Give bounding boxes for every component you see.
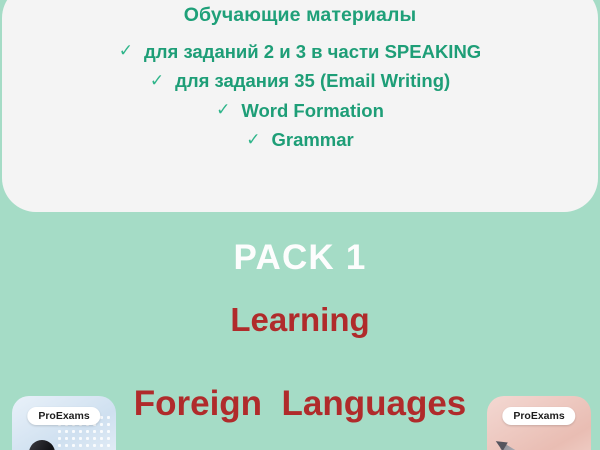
materials-card: Обучающие материалы ✓ для заданий 2 и 3 … xyxy=(2,0,598,212)
pack-title: PACK 1 xyxy=(0,240,600,275)
list-item: ✓ Word Formation xyxy=(2,102,598,121)
thumbnail-card-writing[interactable]: ProExams xyxy=(487,396,591,450)
list-item: ✓ для задания 35 (Email Writing) xyxy=(2,72,598,91)
list-item-label: для заданий 2 и 3 в части SPEAKING xyxy=(144,43,481,62)
list-item: ✓ для заданий 2 и 3 в части SPEAKING xyxy=(2,43,598,62)
check-icon: ✓ xyxy=(119,42,133,59)
poster-canvas: Обучающие материалы ✓ для заданий 2 и 3 … xyxy=(0,0,600,450)
check-icon: ✓ xyxy=(150,72,164,89)
brand-badge: ProExams xyxy=(27,407,100,425)
list-item-label: Word Formation xyxy=(241,102,384,121)
list-item-label: для задания 35 (Email Writing) xyxy=(175,72,450,91)
list-item-label: Grammar xyxy=(271,131,353,150)
microphone-icon xyxy=(29,440,55,450)
thumbnail-card-speaking[interactable]: ProExams xyxy=(12,396,116,450)
learning-title: Learning xyxy=(0,303,600,336)
list-item: ✓ Grammar xyxy=(2,131,598,150)
materials-card-heading: Обучающие материалы xyxy=(184,6,416,26)
materials-list: ✓ для заданий 2 и 3 в части SPEAKING ✓ д… xyxy=(2,32,598,150)
check-icon: ✓ xyxy=(216,101,230,118)
pencil-icon xyxy=(499,442,581,450)
brand-badge: ProExams xyxy=(502,407,575,425)
check-icon: ✓ xyxy=(246,131,260,148)
